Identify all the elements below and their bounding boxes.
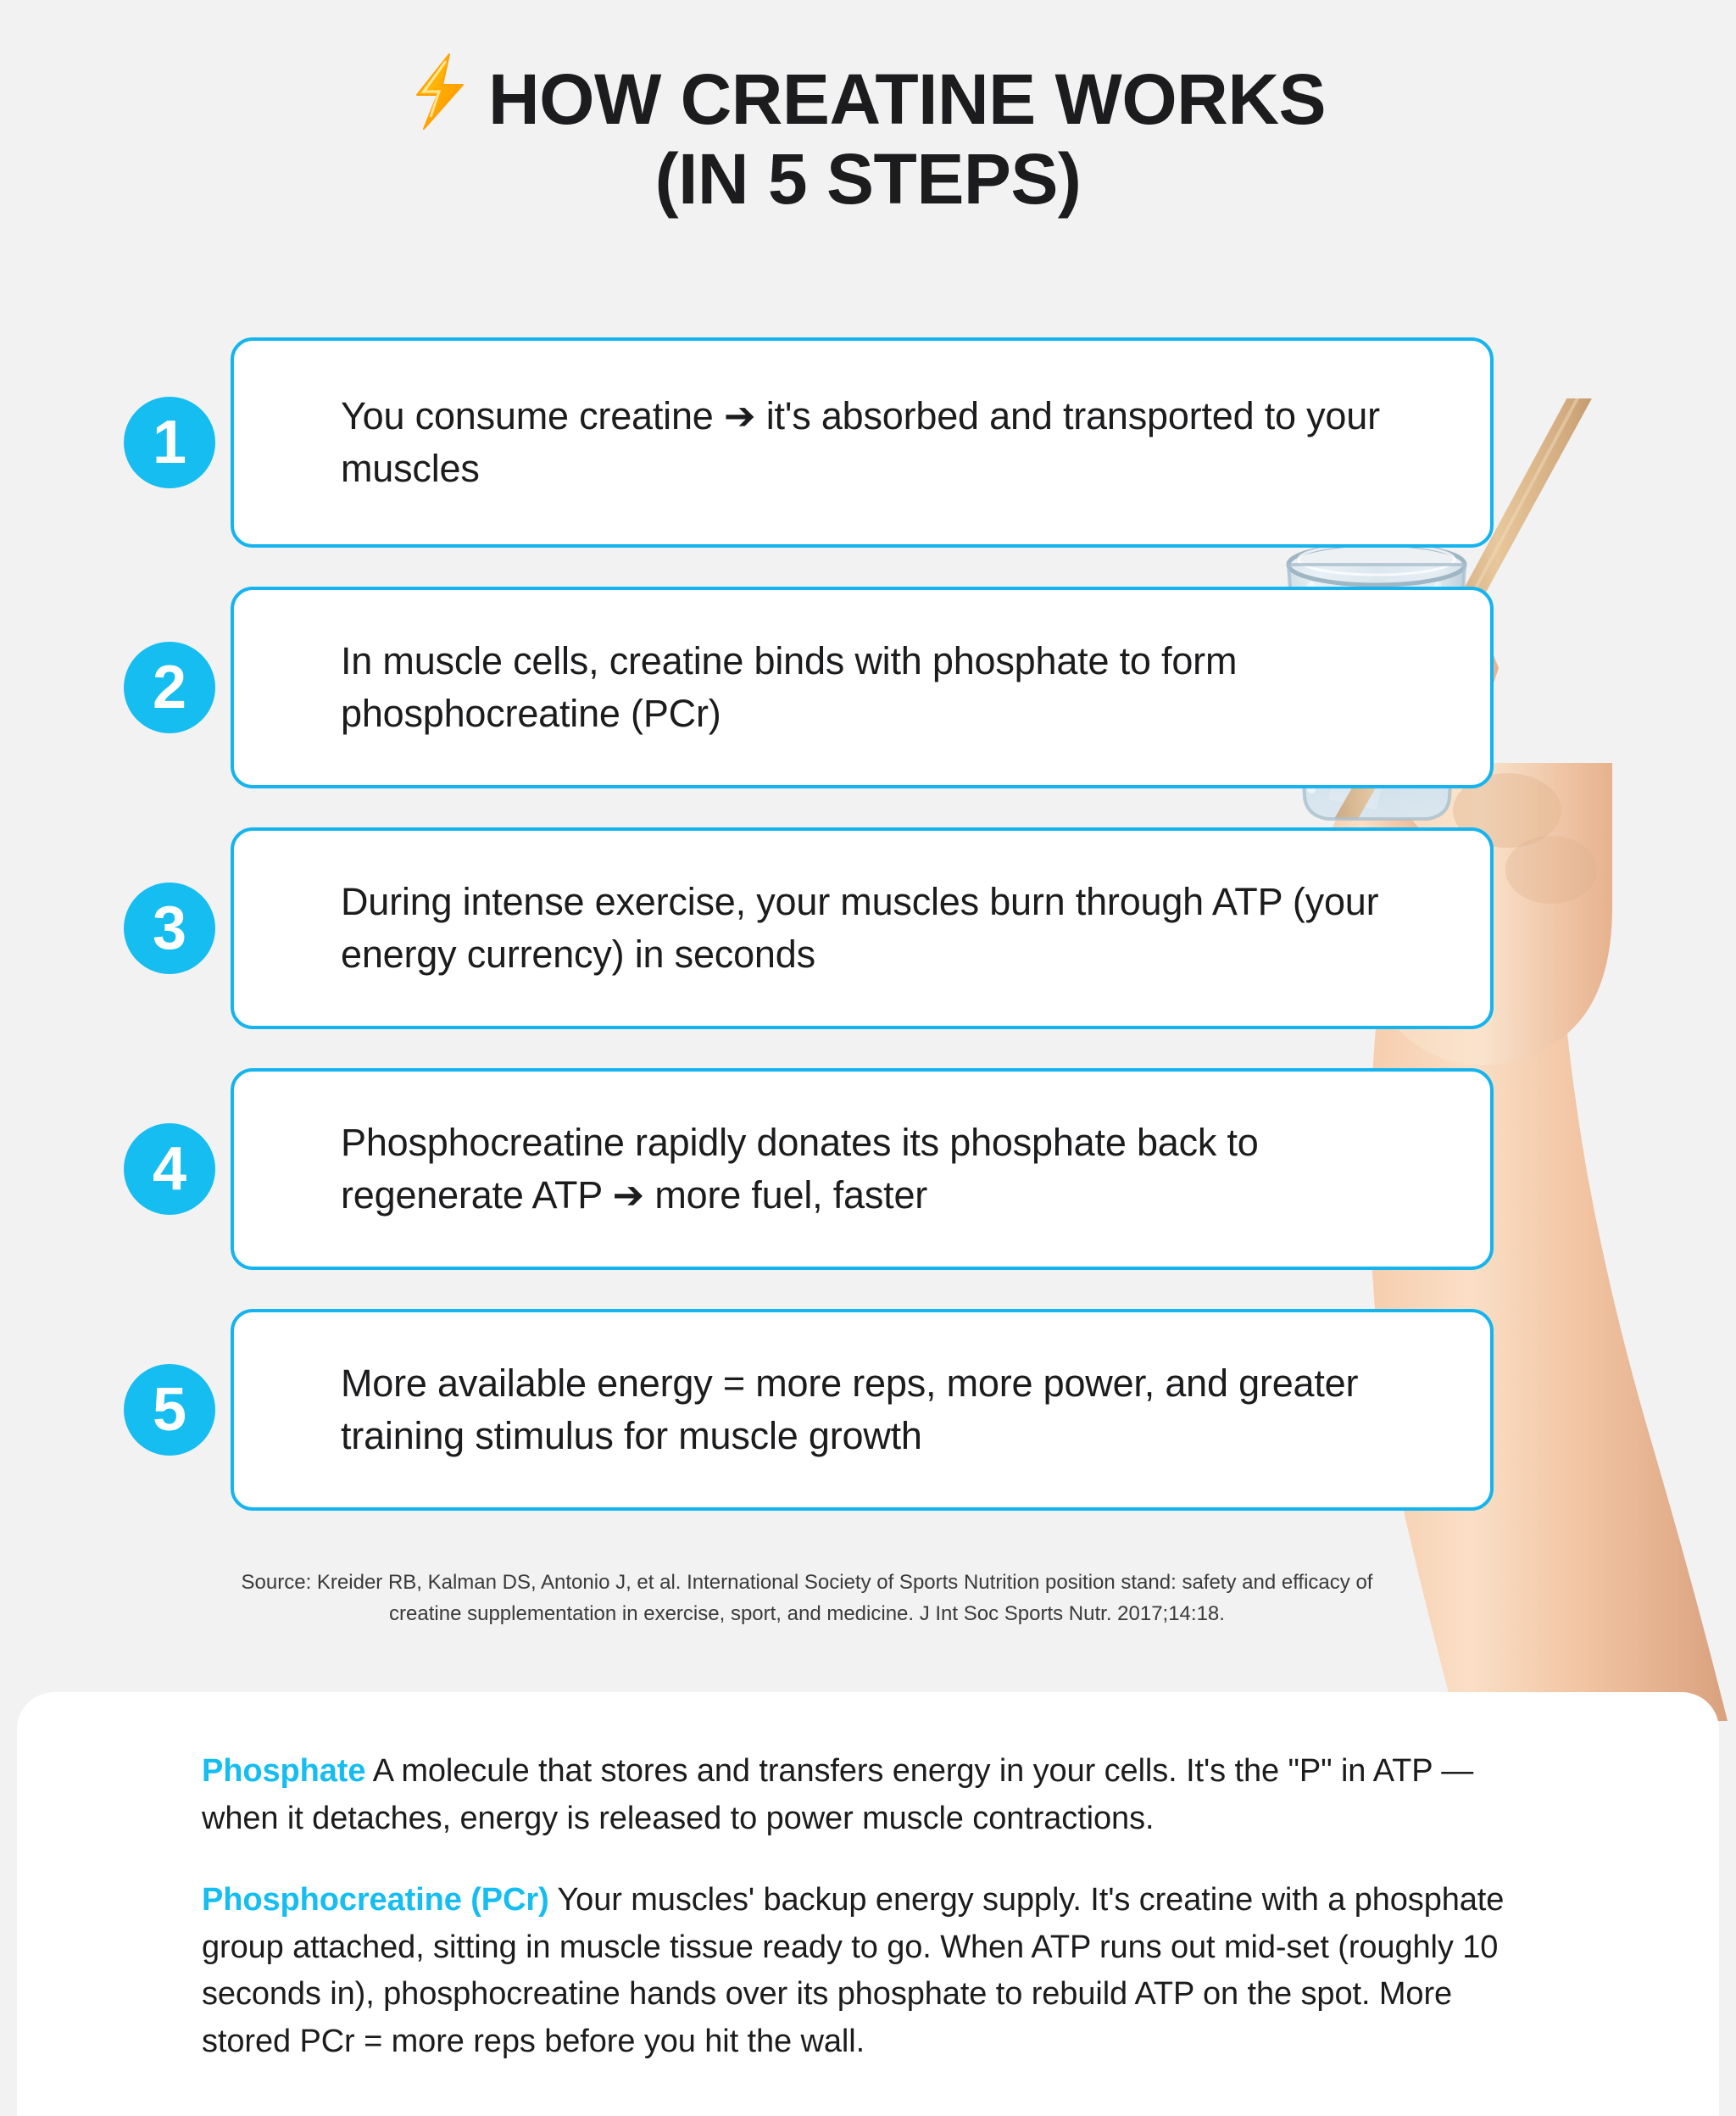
glossary-entry-phosphocreatine: Phosphocreatine (PCr) Your muscles' back… — [202, 1877, 1541, 2066]
step-text-4: Phosphocreatine rapidly donates its phos… — [234, 1116, 1490, 1222]
step-text-3: During intense exercise, your muscles bu… — [234, 876, 1490, 981]
title-line-1: HOW CREATINE WORKS — [0, 53, 1736, 139]
step-number-badge-4: 4 — [124, 1123, 215, 1215]
glossary-term-phosphate: Phosphate — [202, 1753, 365, 1789]
title-text-1: HOW CREATINE WORKS — [488, 59, 1326, 139]
step-item-3[interactable]: 3 During intense exercise, your muscles … — [231, 827, 1494, 1029]
step-number-badge-2: 2 — [124, 642, 215, 733]
glossary-definition-phosphate: A molecule that stores and transfers ene… — [202, 1753, 1473, 1836]
step-text-5: More available energy = more reps, more … — [234, 1357, 1490, 1462]
step-number-badge-5: 5 — [124, 1364, 215, 1456]
step-item-5[interactable]: 5 More available energy = more reps, mor… — [231, 1309, 1494, 1511]
step-number-badge-1: 1 — [124, 397, 215, 488]
title-line-2: (IN 5 STEPS) — [0, 139, 1736, 219]
step-number-badge-3: 3 — [124, 883, 215, 974]
step-item-2[interactable]: 2 In muscle cells, creatine binds with p… — [231, 587, 1494, 788]
page-header: HOW CREATINE WORKS (IN 5 STEPS) — [0, 53, 1736, 219]
glossary-term-phosphocreatine: Phosphocreatine (PCr) — [202, 1882, 549, 1918]
steps-list: 1 You consume creatine ➔ it's absorbed a… — [231, 337, 1494, 1511]
lightning-bolt-icon — [410, 53, 473, 131]
infographic-page: HOW CREATINE WORKS (IN 5 STEPS) 1 You co… — [0, 0, 1736, 2116]
step-text-1: You consume creatine ➔ it's absorbed and… — [234, 390, 1490, 495]
step-item-1[interactable]: 1 You consume creatine ➔ it's absorbed a… — [231, 337, 1494, 548]
step-text-2: In muscle cells, creatine binds with pho… — [234, 635, 1490, 740]
step-item-4[interactable]: 4 Phosphocreatine rapidly donates its ph… — [231, 1068, 1494, 1270]
source-citation: Source: Kreider RB, Kalman DS, Antonio J… — [231, 1567, 1383, 1629]
glossary-card: Phosphate A molecule that stores and tra… — [17, 1692, 1719, 2116]
glossary-entry-phosphate: Phosphate A molecule that stores and tra… — [202, 1748, 1541, 1843]
